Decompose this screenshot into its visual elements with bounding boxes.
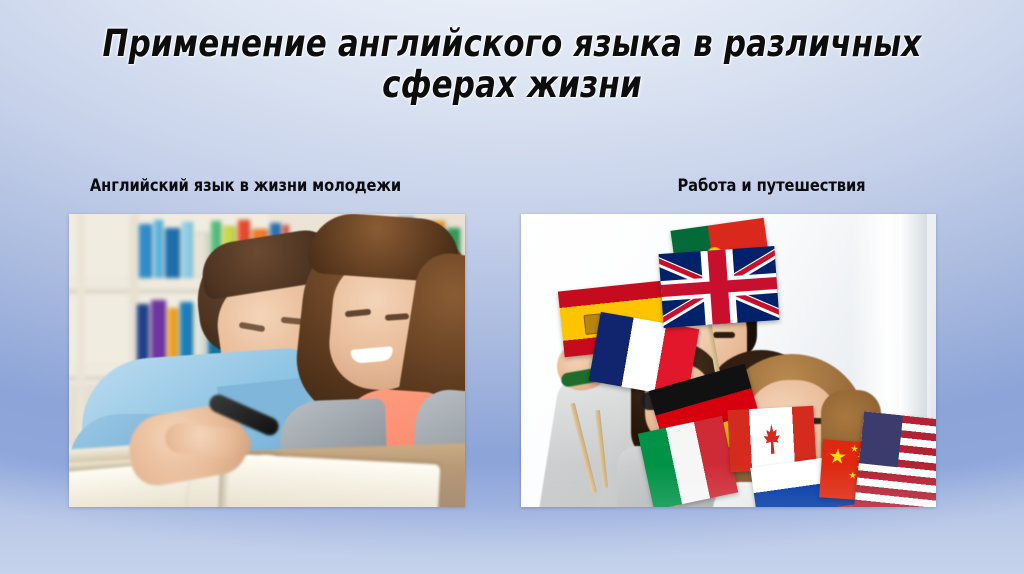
photo-work-and-travel <box>521 214 936 507</box>
photo-youth-library <box>69 214 465 507</box>
hand-with-pen <box>69 214 465 507</box>
page-title-line-1: Применение английского языка в различных <box>88 23 936 64</box>
china-star-large-icon <box>828 448 846 465</box>
page-title: Применение английского языка в различных… <box>88 23 936 105</box>
flag-usa <box>854 411 936 507</box>
usa-canton-icon <box>859 411 903 467</box>
man1-eye <box>713 332 735 338</box>
slide-canvas: Применение английского языка в различных… <box>0 0 1024 574</box>
caption-left: Английский язык в жизни молодежи <box>86 176 406 196</box>
caption-right: Работа и путешествия <box>623 176 920 196</box>
canada-maple-leaf-icon <box>763 424 782 455</box>
flag-italy <box>638 416 738 507</box>
page-title-line-2: сферах жизни <box>88 64 936 105</box>
china-star-small-icon <box>848 471 856 479</box>
china-star-small-icon <box>850 445 858 453</box>
flag-united-kingdom <box>659 246 780 328</box>
